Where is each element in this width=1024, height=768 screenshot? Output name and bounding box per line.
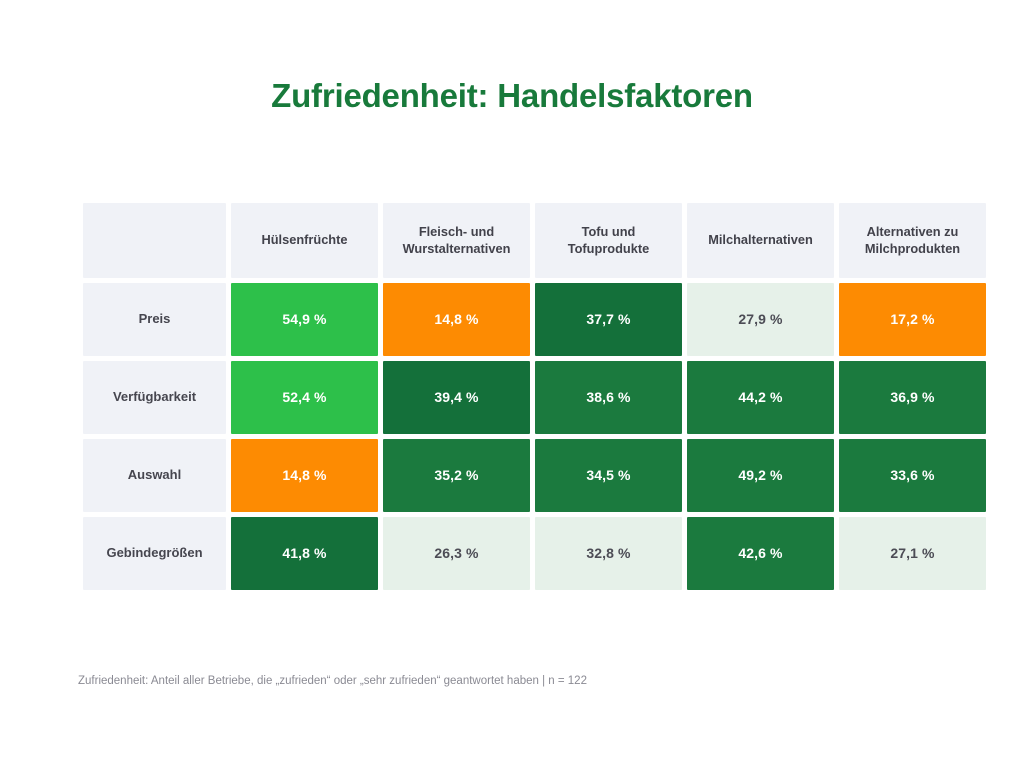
matrix-cell: 49,2 % [687, 439, 834, 512]
column-header-line: Tofu und [582, 224, 636, 239]
matrix-cell: 26,3 % [383, 517, 530, 590]
satisfaction-matrix: HülsenfrüchteFleisch- undWurstalternativ… [78, 198, 991, 595]
matrix-corner-cell [83, 203, 226, 278]
row-header: Preis [83, 283, 226, 356]
column-header-line: Milchalternativen [708, 232, 813, 247]
matrix-header: HülsenfrüchteFleisch- undWurstalternativ… [83, 203, 986, 278]
matrix-cell: 35,2 % [383, 439, 530, 512]
matrix-cell: 27,9 % [687, 283, 834, 356]
column-header: Tofu undTofuprodukte [535, 203, 682, 278]
matrix-row: Verfügbarkeit52,4 %39,4 %38,6 %44,2 %36,… [83, 361, 986, 434]
row-header: Verfügbarkeit [83, 361, 226, 434]
matrix-row: Auswahl14,8 %35,2 %34,5 %49,2 %33,6 % [83, 439, 986, 512]
column-header-line: Wurstalternativen [403, 241, 511, 256]
matrix-body: Preis54,9 %14,8 %37,7 %27,9 %17,2 %Verfü… [83, 283, 986, 590]
matrix-cell: 39,4 % [383, 361, 530, 434]
matrix-cell: 34,5 % [535, 439, 682, 512]
matrix-cell: 36,9 % [839, 361, 986, 434]
matrix-cell: 33,6 % [839, 439, 986, 512]
matrix-cell: 37,7 % [535, 283, 682, 356]
column-header-line: Milchprodukten [865, 241, 960, 256]
matrix-cell: 27,1 % [839, 517, 986, 590]
matrix-cell: 14,8 % [383, 283, 530, 356]
matrix-cell: 44,2 % [687, 361, 834, 434]
matrix-cell: 54,9 % [231, 283, 378, 356]
column-header: Hülsenfrüchte [231, 203, 378, 278]
matrix-cell: 42,6 % [687, 517, 834, 590]
matrix-cell: 41,8 % [231, 517, 378, 590]
footnote: Zufriedenheit: Anteil aller Betriebe, di… [78, 673, 958, 689]
header-row: HülsenfrüchteFleisch- undWurstalternativ… [83, 203, 986, 278]
row-header: Gebindegrößen [83, 517, 226, 590]
matrix-cell: 32,8 % [535, 517, 682, 590]
matrix-cell: 52,4 % [231, 361, 378, 434]
column-header-line: Fleisch- und [419, 224, 494, 239]
row-header: Auswahl [83, 439, 226, 512]
matrix-cell: 17,2 % [839, 283, 986, 356]
column-header-line: Alternativen zu [867, 224, 959, 239]
column-header-line: Hülsenfrüchte [261, 232, 347, 247]
column-header: Alternativen zuMilchprodukten [839, 203, 986, 278]
matrix-row: Gebindegrößen41,8 %26,3 %32,8 %42,6 %27,… [83, 517, 986, 590]
column-header-line: Tofuprodukte [568, 241, 650, 256]
column-header: Milchalternativen [687, 203, 834, 278]
matrix-row: Preis54,9 %14,8 %37,7 %27,9 %17,2 % [83, 283, 986, 356]
slide-root: Zufriedenheit: Handelsfaktoren Hülsenfrü… [0, 0, 1024, 768]
page-title: Zufriedenheit: Handelsfaktoren [0, 76, 1024, 116]
column-header: Fleisch- undWurstalternativen [383, 203, 530, 278]
matrix-cell: 14,8 % [231, 439, 378, 512]
matrix-cell: 38,6 % [535, 361, 682, 434]
